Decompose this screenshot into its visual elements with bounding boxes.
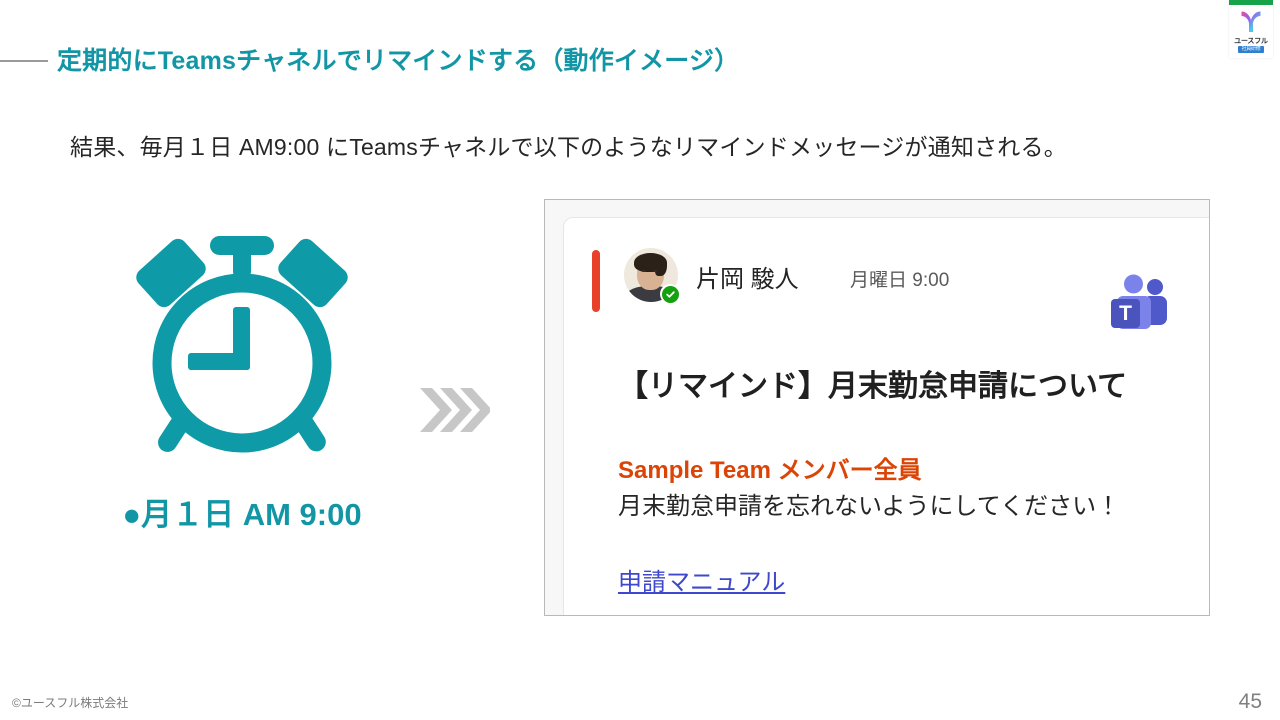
schedule-illustration: ●月１日 AM 9:00: [92, 228, 392, 534]
brand-accent-bar: [1229, 0, 1273, 5]
triple-chevron-right-icon: [418, 382, 490, 438]
svg-text:T: T: [1119, 302, 1132, 325]
brand-y-mark-icon: [1240, 9, 1262, 34]
brand-name: ユースフル: [1229, 36, 1273, 46]
avatar-eye-right: [653, 270, 657, 272]
schedule-caption: ●月１日 AM 9:00: [92, 489, 392, 534]
brand-sub-badge: 社員研修: [1238, 46, 1264, 53]
avatar[interactable]: [624, 248, 678, 302]
avatar-hair-side: [655, 256, 667, 276]
lead-paragraph: 結果、毎月１日 AM9:00 にTeamsチャネルで以下のようなリマインドメッセ…: [70, 128, 1067, 162]
message-mention: Sample Team メンバー全員: [618, 450, 922, 485]
application-manual-link[interactable]: 申請マニュアル: [618, 562, 785, 597]
message-subject: 【リマインド】月末勤怠申請について: [618, 361, 1127, 405]
message-header: 片岡 駿人 月曜日 9:00 T: [578, 248, 1191, 316]
brand-logo: ユースフル 社員研修: [1229, 0, 1273, 58]
avatar-eye-left: [642, 270, 646, 272]
footer-copyright: ©ユースフル株式会社: [12, 694, 128, 711]
presence-available-icon: [660, 284, 680, 304]
sender-name: 片岡 駿人: [696, 259, 799, 294]
title-rule: [0, 60, 48, 62]
teams-message-card: 片岡 駿人 月曜日 9:00 T 【リマインド】月末勤怠申請について Sampl…: [563, 217, 1209, 615]
message-timestamp: 月曜日 9:00: [850, 265, 949, 292]
page-title: 定期的にTeamsチャネルでリマインドする（動作イメージ）: [57, 41, 739, 77]
alarm-clock-icon: [132, 228, 352, 473]
microsoft-teams-icon: T: [1105, 268, 1175, 338]
importance-bar: [592, 250, 600, 312]
page-number: 45: [1239, 690, 1262, 714]
message-body: 月末勤怠申請を忘れないようにしてください！: [618, 486, 1120, 521]
teams-screenshot-frame: 片岡 駿人 月曜日 9:00 T 【リマインド】月末勤怠申請について Sampl…: [544, 199, 1210, 616]
